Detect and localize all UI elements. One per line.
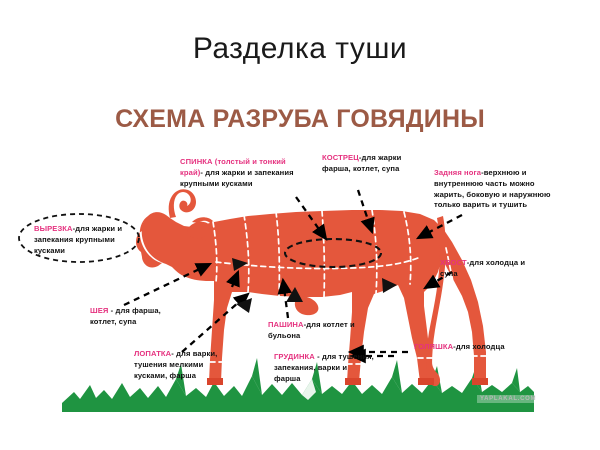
cut-name-kostrets: КОСТРЕЦ (322, 153, 359, 162)
label-zadnyaya-noga: Задняя нога-верхнюю и внутреннюю часть м… (434, 168, 564, 211)
cut-name-sheya: ШЕЯ (90, 306, 108, 315)
cut-separator-lopatka: - (171, 349, 174, 358)
cut-separator-spinka: - (200, 168, 203, 177)
watermark: YAPLAKAL.COM (477, 395, 539, 403)
label-kostrets: КОСТРЕЦ-для жарки фарша, котлет, супа (322, 153, 414, 175)
label-spinka: СПИНКА (толстый и тонкий край)- для жарк… (180, 157, 296, 189)
cut-name-pashina: ПАШИНА (268, 320, 304, 329)
cut-separator-grudinka: - (315, 352, 322, 361)
cut-name-golyashka: ГОЛЯШКА (414, 342, 453, 351)
label-lopatka: ЛОПАТКА- для варки, тушения мелкими куск… (134, 349, 232, 381)
label-pashina: ПАШИНА-для котлет и бульона (268, 320, 370, 342)
cut-name-zadnyaya-noga: Задняя нога (434, 168, 481, 177)
cut-name-lopatka: ЛОПАТКА (134, 349, 171, 358)
cut-name-grudinka: ГРУДИНКА (274, 352, 315, 361)
carcass-cutting-diagram-page: Разделка туши СХЕМА РАЗРУБА ГОВЯДИНЫ (0, 0, 600, 450)
label-vyrezka: ВЫРЕЗКА-для жарки и запекания крупными к… (26, 218, 150, 263)
label-golyashka: ГОЛЯШКА-для холодца (414, 342, 510, 353)
label-grudinka: ГРУДИНКА - для тушения, запекания, варки… (274, 352, 374, 384)
label-sheya: ШЕЯ - для фарша, котлет, супа (90, 306, 180, 328)
label-khvost: ХВОСТ-для холодца и супа (440, 258, 536, 280)
cut-separator-sheya: - (108, 306, 115, 315)
cut-name-vyrezka: ВЫРЕЗКА (34, 224, 73, 233)
cut-description-golyashka: для холодца (456, 342, 505, 351)
cut-name-khvost: ХВОСТ (440, 258, 467, 267)
arrow-sheya (124, 264, 210, 305)
